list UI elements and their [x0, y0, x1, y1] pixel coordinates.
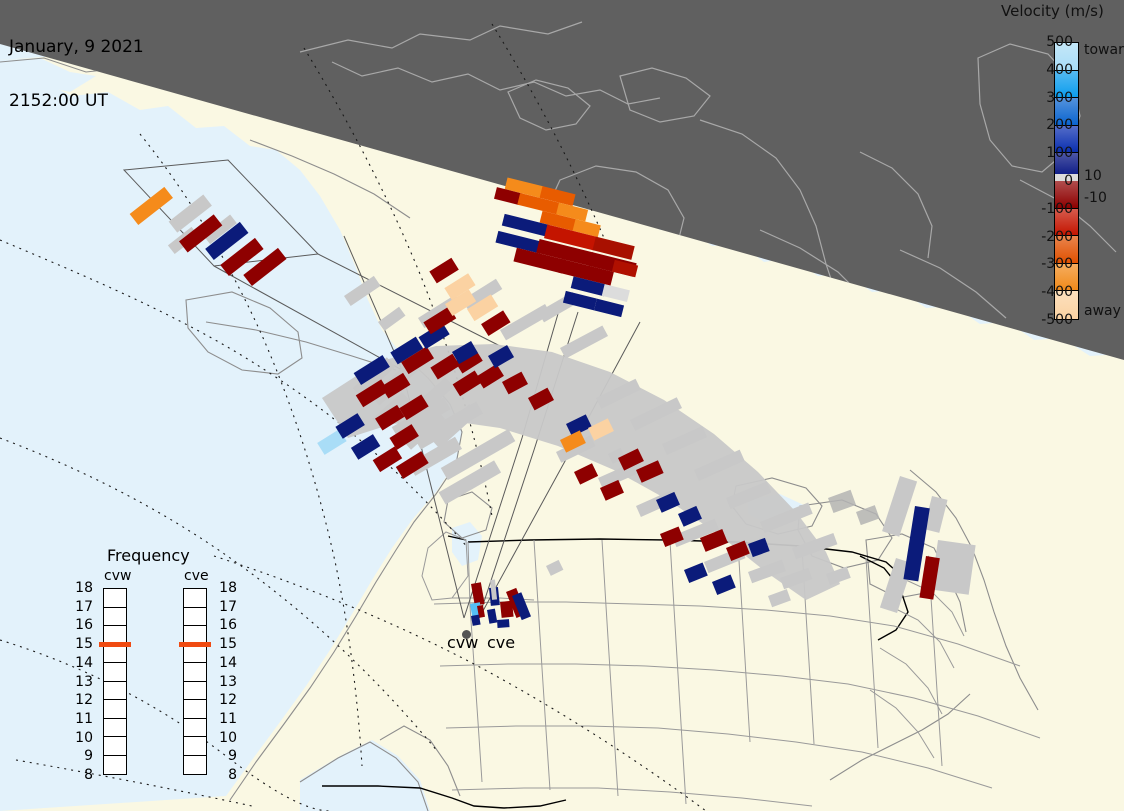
- frequency-cell: [104, 589, 126, 608]
- time-label: 2152:00 UT: [9, 92, 144, 110]
- colorbar-away-label: away: [1084, 303, 1121, 319]
- frequency-tick-14: 14: [213, 655, 237, 671]
- frequency-tick-18: 18: [213, 580, 237, 596]
- site-label-cvw: cvw: [447, 633, 478, 652]
- frequency-cell: [104, 608, 126, 627]
- frequency-tick-17: 17: [69, 599, 93, 615]
- frequency-column-label: cve: [184, 568, 209, 584]
- frequency-cell: [104, 756, 126, 775]
- frequency-cell: [184, 645, 206, 664]
- frequency-cell: [104, 737, 126, 756]
- frequency-tick-10: 10: [213, 730, 237, 746]
- colorbar-tick--300: -300: [1041, 256, 1073, 272]
- timestamp-block: January, 9 2021 2152:00 UT: [9, 2, 144, 146]
- frequency-cell: [184, 700, 206, 719]
- frequency-cell: [184, 682, 206, 701]
- colorbar-center-positive-label: 10: [1084, 168, 1102, 184]
- frequency-title: Frequency: [107, 546, 190, 565]
- frequency-tick-9: 9: [69, 748, 93, 764]
- frequency-cell: [104, 719, 126, 738]
- frequency-legend-panel: Frequency cvw18171615141312111098cve1817…: [85, 546, 240, 786]
- frequency-tick-10: 10: [69, 730, 93, 746]
- radar-map-view: January, 9 2021 2152:00 UT cvw cve Veloc…: [0, 0, 1124, 811]
- frequency-tick-11: 11: [213, 711, 237, 727]
- colorbar-tick-0: 0: [1064, 173, 1073, 189]
- frequency-cell: [104, 663, 126, 682]
- frequency-cell: [184, 663, 206, 682]
- frequency-bar-cvw[interactable]: [103, 588, 127, 775]
- colorbar-tick-100: 100: [1046, 145, 1073, 161]
- frequency-tick-16: 16: [213, 617, 237, 633]
- frequency-marker-cvw: [99, 642, 131, 647]
- frequency-cell: [184, 719, 206, 738]
- frequency-cell: [184, 608, 206, 627]
- frequency-tick-11: 11: [69, 711, 93, 727]
- site-label-cve: cve: [487, 633, 515, 652]
- colorbar-tick--400: -400: [1041, 284, 1073, 300]
- frequency-tick-9: 9: [213, 748, 237, 764]
- frequency-tick-15: 15: [69, 636, 93, 652]
- frequency-column-label: cvw: [104, 568, 131, 584]
- frequency-tick-13: 13: [213, 674, 237, 690]
- frequency-tick-15: 15: [213, 636, 237, 652]
- frequency-cell: [104, 700, 126, 719]
- colorbar-toward-label: toward: [1084, 42, 1124, 58]
- frequency-tick-12: 12: [213, 692, 237, 708]
- colorbar-tick-300: 300: [1046, 90, 1073, 106]
- frequency-marker-cve: [179, 642, 211, 647]
- frequency-cell: [104, 645, 126, 664]
- colorbar-tick-400: 400: [1046, 62, 1073, 78]
- date-label: January, 9 2021: [9, 38, 144, 56]
- frequency-tick-16: 16: [69, 617, 93, 633]
- frequency-cell: [184, 756, 206, 775]
- colorbar-tick--200: -200: [1041, 229, 1073, 245]
- colorbar-tick--500: -500: [1041, 312, 1073, 328]
- frequency-cell: [184, 589, 206, 608]
- frequency-tick-8: 8: [213, 767, 237, 783]
- frequency-tick-8: 8: [69, 767, 93, 783]
- velocity-colorbar-panel: Velocity (m/s) 5004003002001000-100-200-…: [974, 0, 1124, 340]
- colorbar-tick--100: -100: [1041, 201, 1073, 217]
- colorbar-tick-500: 500: [1046, 34, 1073, 50]
- frequency-tick-18: 18: [69, 580, 93, 596]
- frequency-tick-14: 14: [69, 655, 93, 671]
- frequency-tick-12: 12: [69, 692, 93, 708]
- frequency-cell: [104, 682, 126, 701]
- colorbar-title: Velocity (m/s): [1001, 2, 1104, 20]
- colorbar-center-negative-label: -10: [1084, 190, 1107, 206]
- frequency-tick-13: 13: [69, 674, 93, 690]
- colorbar-tick-200: 200: [1046, 117, 1073, 133]
- frequency-cell: [184, 737, 206, 756]
- frequency-bar-cve[interactable]: [183, 588, 207, 775]
- frequency-tick-17: 17: [213, 599, 237, 615]
